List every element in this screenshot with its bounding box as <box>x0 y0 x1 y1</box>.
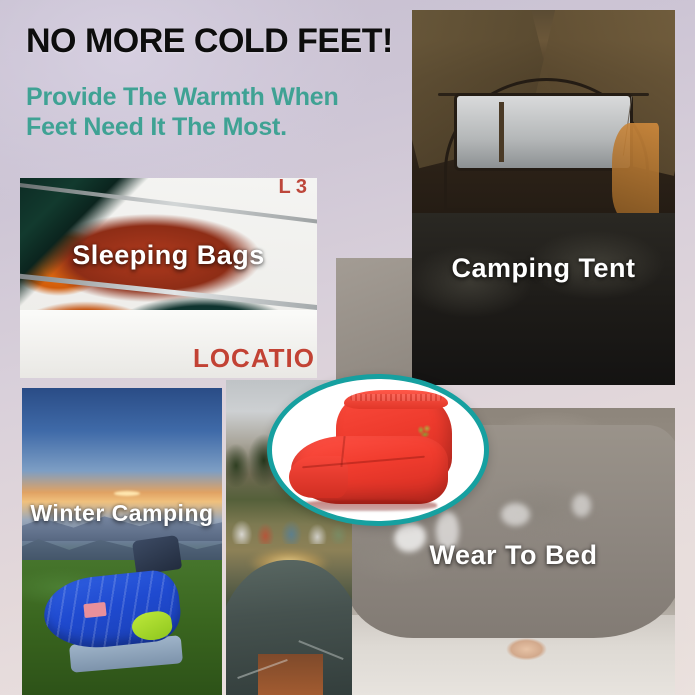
product-poster: NO MORE COLD FEET! Provide The Warmth Wh… <box>0 0 695 695</box>
panel-sleeping-bags: L 3 LOCATIO Sleeping Bags <box>20 178 317 378</box>
subtitle-line-1: Provide The Warmth When <box>26 82 426 113</box>
duvet-highlight-4 <box>572 494 591 517</box>
tent-interior-glow <box>258 654 323 695</box>
backpack <box>132 535 182 575</box>
product-callout-oval <box>267 374 489 526</box>
duvet-highlight-2 <box>436 511 459 551</box>
boat-decal-location: LOCATIO <box>193 343 315 374</box>
bootie-elastic-cuff <box>344 390 448 408</box>
bare-feet <box>501 638 553 667</box>
headline-block: NO MORE COLD FEET! Provide The Warmth Wh… <box>26 24 426 143</box>
panel-camping-tent: Camping Tent <box>412 10 675 385</box>
tent-seam <box>438 93 648 96</box>
page-title: NO MORE COLD FEET! <box>26 24 426 60</box>
page-subtitle: Provide The Warmth When Feet Need It The… <box>26 82 426 143</box>
subtitle-line-2: Feet Need It The Most. <box>26 112 426 143</box>
tent-quilt-bedding <box>412 213 675 386</box>
bootie-sole-shadow <box>297 500 437 511</box>
tent-window-post <box>499 102 504 162</box>
pink-tag <box>83 602 106 618</box>
tent-door-flap <box>612 123 659 221</box>
sunrise-glow <box>114 491 140 496</box>
panel-winter-camping: Winter Camping <box>22 388 222 695</box>
tent-window <box>457 96 631 167</box>
background-grey-card <box>336 258 414 381</box>
duvet-highlight-3 <box>501 503 530 526</box>
boat-decal-top: L 3 <box>278 178 307 199</box>
